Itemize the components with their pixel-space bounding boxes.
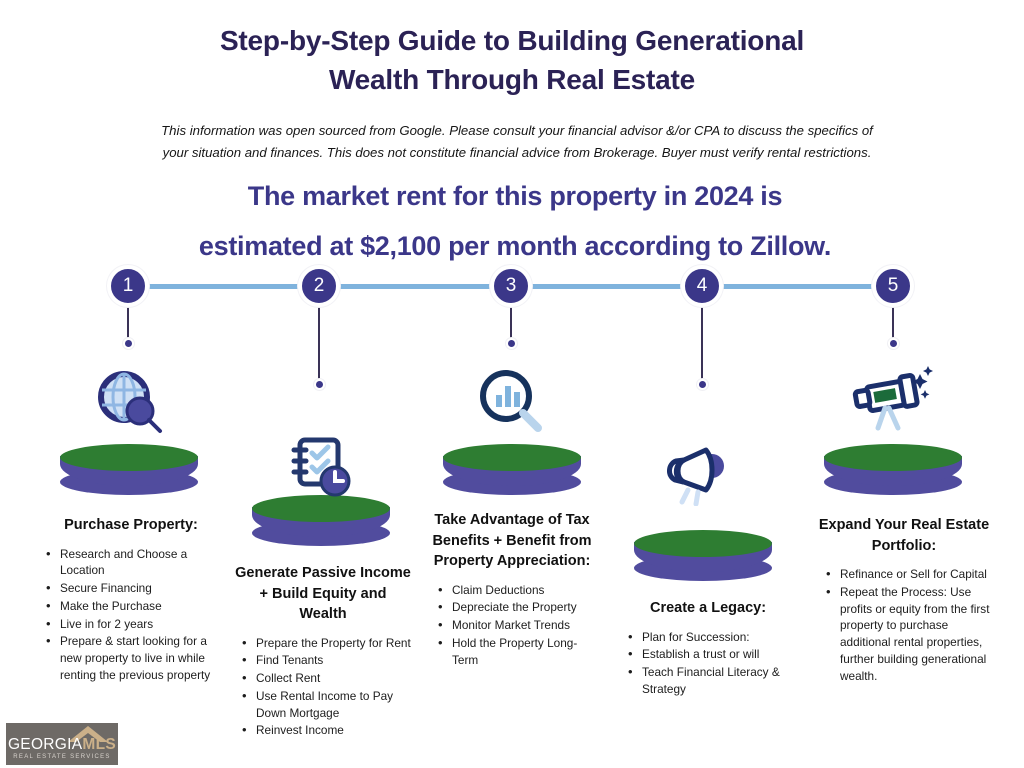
list-item: Establish a trust or will: [640, 646, 796, 663]
telescope-sparkle-icon: [852, 364, 934, 432]
platform-disc-3-top: [443, 444, 581, 471]
step-column-2: Generate Passive Income + Build Equity a…: [234, 563, 412, 740]
magnifier-barchart-icon: [476, 368, 546, 434]
list-item: Reinvest Income: [254, 722, 412, 739]
timeline-stem-2: [318, 300, 321, 385]
globe-search-icon: [92, 368, 170, 434]
platform-disc-1-top: [60, 444, 198, 471]
list-item: Depreciate the Property: [450, 599, 594, 616]
step-2-title: Generate Passive Income + Build Equity a…: [234, 563, 412, 625]
timeline-stem-dot-5: [888, 338, 899, 349]
platform-disc-1: [60, 444, 198, 494]
disclaimer-text: This information was open sourced from G…: [68, 120, 966, 164]
list-item: Refinance or Sell for Capital: [838, 566, 990, 583]
platform-disc-5-top: [824, 444, 962, 471]
list-item: Research and Choose a Location: [58, 546, 224, 580]
timeline-stem-4: [701, 300, 704, 385]
list-item: Teach Financial Literacy & Strategy: [640, 664, 796, 698]
timeline-stem-dot-1: [123, 338, 134, 349]
timeline-node-2[interactable]: 2: [298, 265, 340, 307]
timeline-node-4-number: 4: [697, 275, 708, 297]
logo-name-primary: GEORGIA: [8, 736, 82, 753]
logo-wordmark: GEORGIAMLS: [6, 736, 118, 754]
list-item: Claim Deductions: [450, 582, 594, 599]
timeline-node-1-number: 1: [123, 275, 134, 297]
megaphone-icon: [662, 444, 732, 506]
list-item: Repeat the Process: Use profits or equit…: [838, 584, 990, 685]
timeline-node-5[interactable]: 5: [872, 265, 914, 307]
platform-disc-4-top: [634, 530, 772, 557]
platform-disc-4: [634, 530, 772, 580]
step-2-bullet-list: Prepare the Property for Rent Find Tenan…: [234, 635, 412, 740]
timeline-node-1[interactable]: 1: [107, 265, 149, 307]
platform-disc-2: [252, 495, 390, 545]
step-column-5: Expand Your Real Estate Portfolio: Refin…: [818, 515, 990, 685]
timeline-node-5-number: 5: [888, 275, 899, 297]
checklist-clock-icon: [288, 434, 354, 500]
timeline-stem-dot-4: [697, 379, 708, 390]
platform-disc-3: [443, 444, 581, 494]
list-item: Prepare the Property for Rent: [254, 635, 412, 652]
georgia-mls-logo: GEORGIAMLS REAL ESTATE SERVICES: [6, 723, 118, 765]
list-item: Prepare & start looking for a new proper…: [58, 633, 224, 683]
disclaimer-line-1: This information was open sourced from G…: [68, 120, 966, 142]
list-item: Live in for 2 years: [58, 616, 224, 633]
timeline-stem-dot-2: [314, 379, 325, 390]
list-item: Use Rental Income to Pay Down Mortgage: [254, 688, 412, 722]
logo-tagline: REAL ESTATE SERVICES: [6, 754, 118, 760]
step-1-bullet-list: Research and Choose a Location Secure Fi…: [38, 546, 224, 684]
disclaimer-line-2: your situation and finances. This does n…: [68, 142, 966, 164]
timeline-node-2-number: 2: [314, 275, 325, 297]
market-rent-line-2: estimated at $2,100 per month according …: [60, 222, 970, 272]
timeline-node-3-number: 3: [506, 275, 517, 297]
timeline-node-4[interactable]: 4: [681, 265, 723, 307]
step-column-3: Take Advantage of Tax Benefits + Benefit…: [430, 510, 594, 669]
timeline-node-3[interactable]: 3: [490, 265, 532, 307]
list-item: Find Tenants: [254, 652, 412, 669]
step-3-title: Take Advantage of Tax Benefits + Benefit…: [430, 510, 594, 572]
list-item: Secure Financing: [58, 580, 224, 597]
page-title-line-1: Step-by-Step Guide to Building Generatio…: [0, 22, 1024, 61]
market-rent-statement: The market rent for this property in 202…: [60, 172, 970, 272]
platform-disc-5: [824, 444, 962, 494]
market-rent-line-1: The market rent for this property in 202…: [60, 172, 970, 222]
step-5-title: Expand Your Real Estate Portfolio:: [818, 515, 990, 556]
list-item: Make the Purchase: [58, 598, 224, 615]
step-1-title: Purchase Property:: [38, 515, 224, 536]
list-item: Plan for Succession:: [640, 629, 796, 646]
step-column-1: Purchase Property: Research and Choose a…: [38, 515, 224, 685]
step-5-bullet-list: Refinance or Sell for Capital Repeat the…: [818, 566, 990, 684]
step-column-4: Create a Legacy: Plan for Succession: Es…: [620, 598, 796, 699]
list-item: Collect Rent: [254, 670, 412, 687]
page-title: Step-by-Step Guide to Building Generatio…: [0, 22, 1024, 99]
timeline-stem-dot-3: [506, 338, 517, 349]
list-item: Hold the Property Long-Term: [450, 635, 594, 669]
step-3-bullet-list: Claim Deductions Depreciate the Property…: [430, 582, 594, 669]
page-title-line-2: Wealth Through Real Estate: [0, 61, 1024, 100]
logo-name-secondary: MLS: [82, 736, 116, 753]
list-item: Monitor Market Trends: [450, 617, 594, 634]
step-4-title: Create a Legacy:: [620, 598, 796, 619]
step-4-bullet-list: Plan for Succession: Establish a trust o…: [620, 629, 796, 698]
